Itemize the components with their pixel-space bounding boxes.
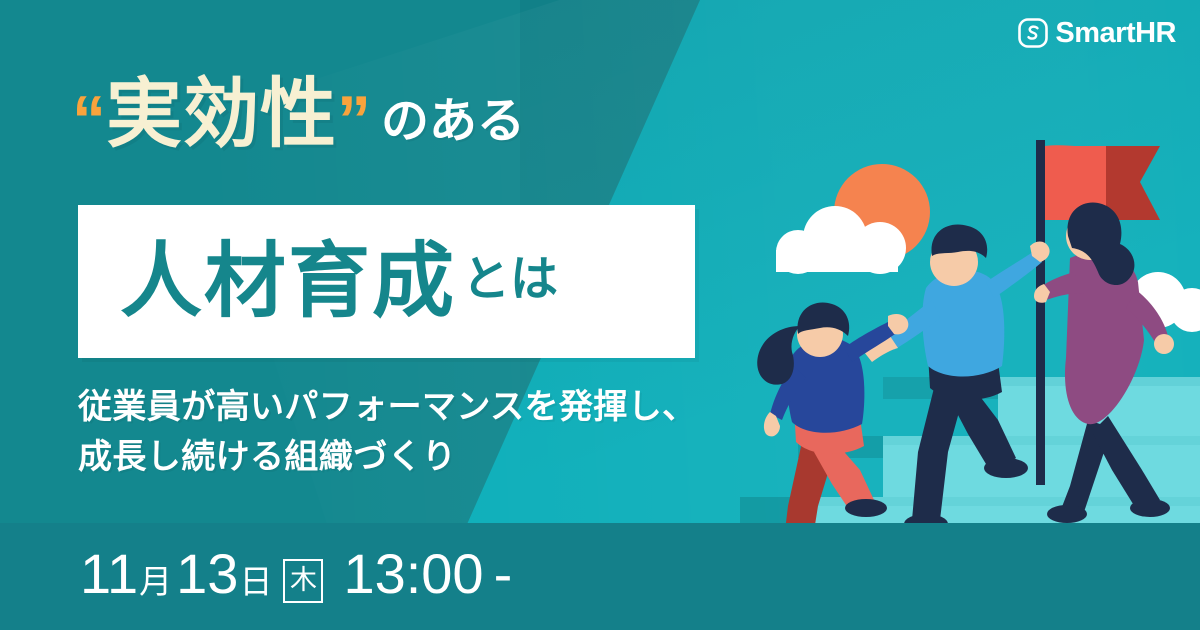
schedule-month-unit: 月 xyxy=(139,565,172,598)
schedule-dash: - xyxy=(494,546,513,602)
schedule-bar: 11 月 13 日 木 13:00 - xyxy=(0,523,1200,630)
subtitle: 従業員が高いパフォーマンスを発揮し、 成長し続ける組織づくり xyxy=(78,382,778,483)
title-main-text: 人材育成 xyxy=(120,241,456,323)
schedule-weekday-badge: 木 xyxy=(283,559,323,603)
title-box: 人材育成 とは xyxy=(78,205,695,358)
headline-tail: のある xyxy=(381,98,525,152)
smarthr-logo[interactable]: SmartHR xyxy=(1018,18,1176,48)
smarthr-logo-text: SmartHR xyxy=(1055,18,1176,48)
smarthr-s-icon xyxy=(1018,18,1048,48)
headline-kicker: “ 実効性 ” のある xyxy=(72,78,525,152)
quote-open-mark: “ xyxy=(72,88,104,153)
schedule-day: 13 xyxy=(176,546,238,602)
schedule-month: 11 xyxy=(80,546,138,602)
subtitle-line-2: 成長し続ける組織づくり xyxy=(78,432,778,482)
schedule-day-unit: 日 xyxy=(239,565,272,598)
quote-close-mark: ” xyxy=(337,88,369,153)
schedule-time: 13:00 xyxy=(343,546,483,602)
headline-emphasis: 実効性 xyxy=(106,78,337,152)
title-suffix-text: とは xyxy=(462,256,558,308)
schedule-row: 11 月 13 日 木 13:00 - xyxy=(0,546,512,607)
flag-pole xyxy=(1036,140,1045,485)
subtitle-line-1: 従業員が高いパフォーマンスを発揮し、 xyxy=(78,382,778,432)
webinar-banner: SmartHR “ 実効性 ” のある 人材育成 とは 従業員が高いパフォーマン… xyxy=(0,0,1200,630)
